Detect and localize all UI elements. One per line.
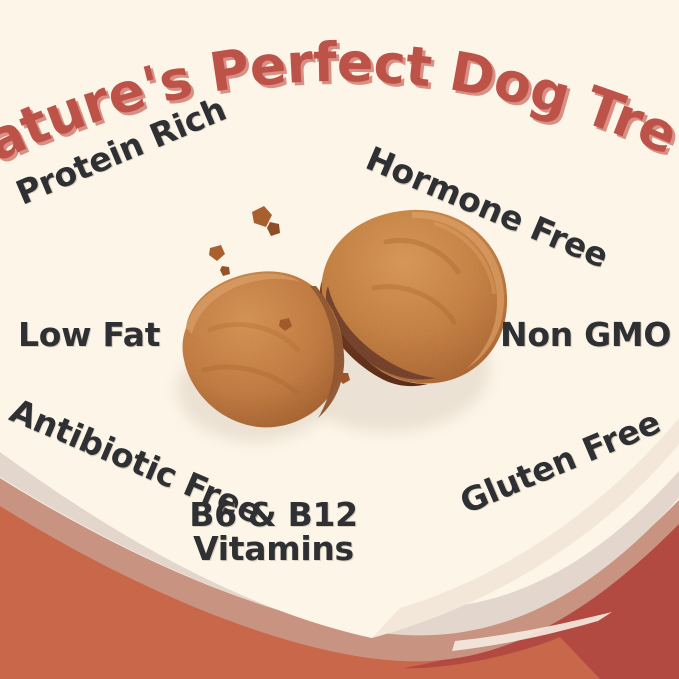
product-infographic-poster: Nature's Perfect Dog Treat Nature's Perf… [0, 0, 679, 679]
product-image [150, 190, 530, 490]
benefit-label-non-gmo: Non GMO [500, 318, 671, 352]
benefit-label-vitamins-line2: Vitamins [0, 532, 613, 566]
wave-highlight-slash [452, 612, 612, 651]
broken-dog-treat-illustration [150, 190, 530, 490]
benefit-label-vitamins-line1: B6 & B12 [0, 498, 613, 532]
benefit-label-vitamins: B6 & B12 Vitamins [0, 498, 613, 565]
benefit-label-low-fat: Low Fat [18, 318, 160, 352]
